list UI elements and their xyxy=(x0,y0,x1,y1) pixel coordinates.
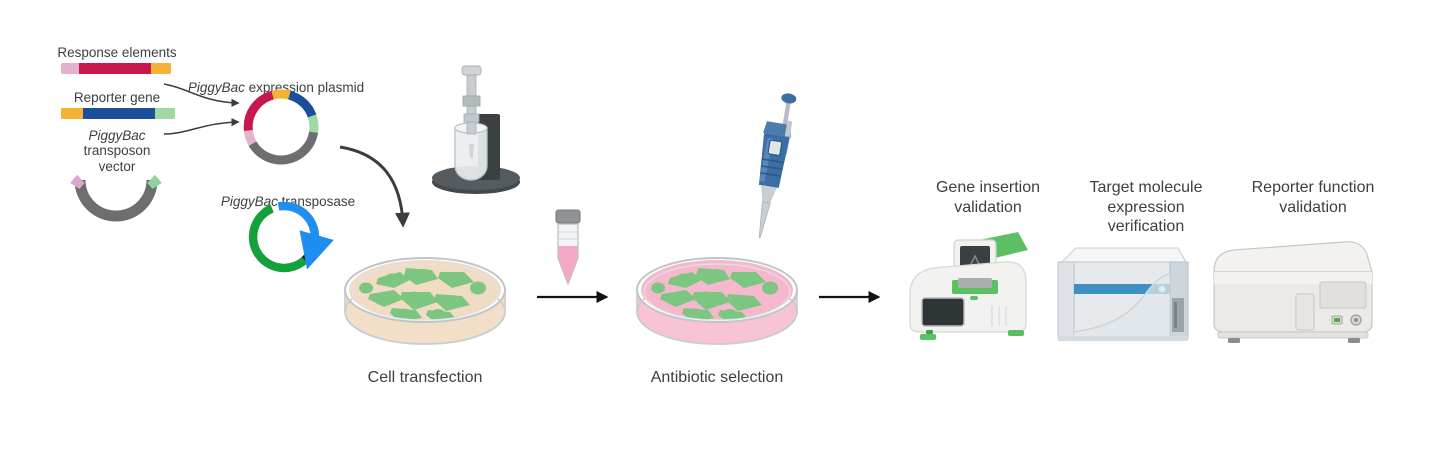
vector-left-end-pink xyxy=(75,179,81,186)
plunger-knob xyxy=(462,66,481,75)
reader-plate-drawer xyxy=(1296,294,1314,330)
reader-power-dot xyxy=(1354,318,1358,322)
imaging-left-column xyxy=(1058,262,1074,338)
tube-cap xyxy=(556,210,580,223)
segment-itr-pink xyxy=(248,131,252,144)
segment-left-flank xyxy=(61,63,79,74)
vector-backbone-arc xyxy=(80,180,152,216)
cycler-foot-right xyxy=(1008,330,1024,336)
pipette-display-window xyxy=(768,140,782,156)
transposon-vector-plasmid xyxy=(60,160,172,232)
transposase-plasmid xyxy=(243,196,325,278)
segment-backbone-green xyxy=(253,208,305,268)
caption-antibiotic-selection: Antibiotic selection xyxy=(617,368,817,388)
imaging-door-slot xyxy=(1172,298,1184,332)
segment-promoter-orange xyxy=(273,94,290,95)
cycler-touchscreen xyxy=(922,298,964,326)
expression-plasmid-italic: PiggyBac xyxy=(188,80,245,95)
tube-liquid xyxy=(559,246,578,283)
plunger-collar-2 xyxy=(464,114,479,122)
micropipette xyxy=(736,88,800,243)
construct-reporter-gene xyxy=(61,108,175,119)
reader-foot-right xyxy=(1348,338,1360,343)
segment-reporter-blue xyxy=(289,95,312,116)
arrow-reporter-to-plasmid xyxy=(162,108,250,140)
segment-reporter-cds xyxy=(83,108,155,119)
arrow-selection-to-validation xyxy=(818,288,894,306)
plunger-collar xyxy=(463,96,480,106)
petri-dish-antibiotic-selection xyxy=(628,248,806,352)
segment-promoter xyxy=(61,108,83,119)
pipette-tip xyxy=(757,202,771,239)
segment-right-flank xyxy=(151,63,171,74)
imaging-system xyxy=(1052,240,1194,348)
construct-response-elements xyxy=(61,63,171,74)
arrow-plasmids-to-dish xyxy=(335,140,445,250)
reader-right-panel xyxy=(1320,282,1366,308)
expression-plasmid xyxy=(239,85,323,169)
figure-canvas: Response elements Reporter gene PiggyBac… xyxy=(0,0,1433,451)
pipette-shaft xyxy=(758,185,776,203)
reader-foot-left xyxy=(1228,338,1240,343)
cycler-sample-plate xyxy=(958,278,992,288)
pipette-plunger-top xyxy=(781,92,797,104)
imaging-base xyxy=(1058,336,1188,341)
segment-transposase-blue-arrow xyxy=(279,206,315,245)
microcentrifuge-tube xyxy=(548,208,588,292)
reader-status-led-green xyxy=(1334,318,1340,322)
thermal-cycler xyxy=(900,222,1040,346)
caption-reporter-function-validation: Reporter function validation xyxy=(1210,178,1416,217)
segment-terminator-green xyxy=(312,116,314,132)
vector-right-end-green xyxy=(151,179,157,186)
cycler-status-led xyxy=(970,296,978,300)
cycler-front-led xyxy=(926,330,933,334)
reader-base xyxy=(1218,332,1368,338)
segment-response-crimson xyxy=(248,95,272,130)
legend-label-response-elements: Response elements xyxy=(37,45,197,61)
petri-dish-cell-transfection xyxy=(336,248,514,352)
plate-reader xyxy=(1208,232,1384,350)
segment-response-elements-core xyxy=(79,63,151,74)
imaging-door-handle xyxy=(1174,302,1177,328)
cycler-foot-left xyxy=(920,334,936,340)
reader-top xyxy=(1214,242,1372,272)
segment-backbone-gray xyxy=(253,132,314,160)
caption-cell-transfection: Cell transfection xyxy=(325,368,525,388)
